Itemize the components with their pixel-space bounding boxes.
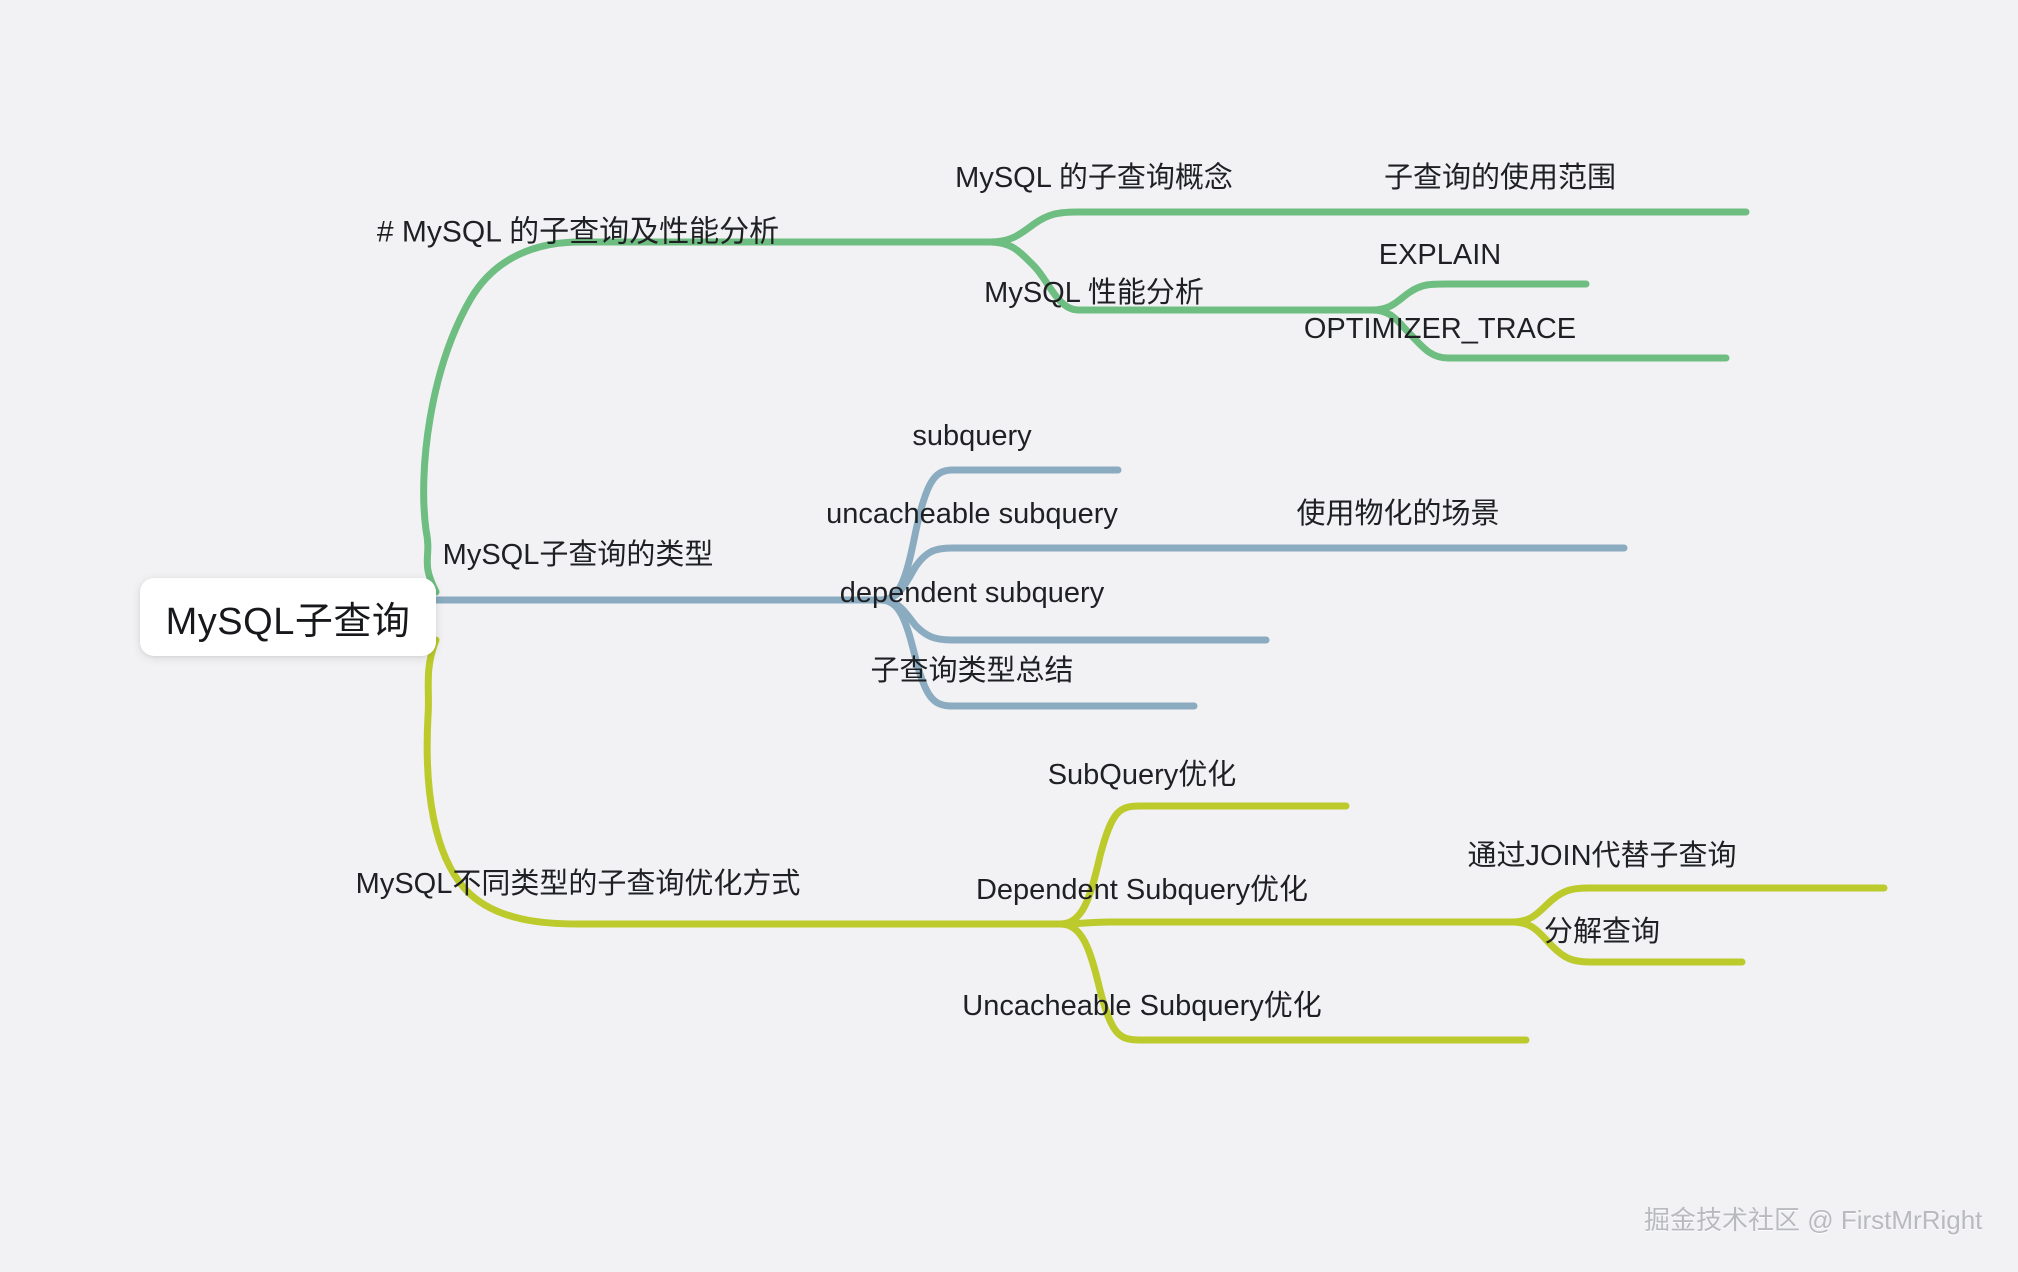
node-label-uncacheable-subquery[interactable]: uncacheable subquery xyxy=(826,499,1118,531)
node-label-explain[interactable]: EXPLAIN xyxy=(1379,240,1502,272)
connector-optimization-to-dependent-opt xyxy=(1060,922,1512,924)
node-label-performance-analysis[interactable]: MySQL 性能分析 xyxy=(984,278,1204,310)
node-label-dependent-subquery[interactable]: dependent subquery xyxy=(840,578,1104,610)
branch-label-optimization[interactable]: MySQL不同类型的子查询优化方式 xyxy=(356,869,801,901)
node-label-uncacheable-subquery-optimization[interactable]: Uncacheable Subquery优化 xyxy=(962,991,1321,1023)
node-label-subquery[interactable]: subquery xyxy=(912,421,1031,453)
node-label-subquery-concept[interactable]: MySQL 的子查询概念 xyxy=(955,163,1233,195)
node-label-subquery-type-summary[interactable]: 子查询类型总结 xyxy=(870,656,1073,688)
branch-label-types[interactable]: MySQL子查询的类型 xyxy=(443,540,714,572)
node-label-materialization-scenarios[interactable]: 使用物化的场景 xyxy=(1296,499,1499,531)
node-label-subquery-scope[interactable]: 子查询的使用范围 xyxy=(1384,163,1616,195)
root-node[interactable]: MySQL子查询 xyxy=(140,578,436,656)
connector-analysis-to-explain xyxy=(1372,284,1586,310)
node-label-replace-with-join[interactable]: 通过JOIN代替子查询 xyxy=(1467,841,1736,873)
node-label-dependent-subquery-optimization[interactable]: Dependent Subquery优化 xyxy=(976,875,1308,907)
connector-types-to-summary xyxy=(880,600,1194,706)
node-label-decompose-query[interactable]: 分解查询 xyxy=(1544,917,1660,949)
branch-label-performance[interactable]: # MySQL 的子查询及性能分析 xyxy=(377,216,779,249)
connector-performance-to-concept xyxy=(990,212,1480,242)
node-label-optimizer-trace[interactable]: OPTIMIZER_TRACE xyxy=(1304,314,1576,346)
node-label-subquery-optimization[interactable]: SubQuery优化 xyxy=(1048,760,1237,792)
watermark-text: 掘金技术社区 @ FirstMrRight xyxy=(1644,1200,1982,1237)
root-node-label: MySQL子查询 xyxy=(166,590,411,645)
